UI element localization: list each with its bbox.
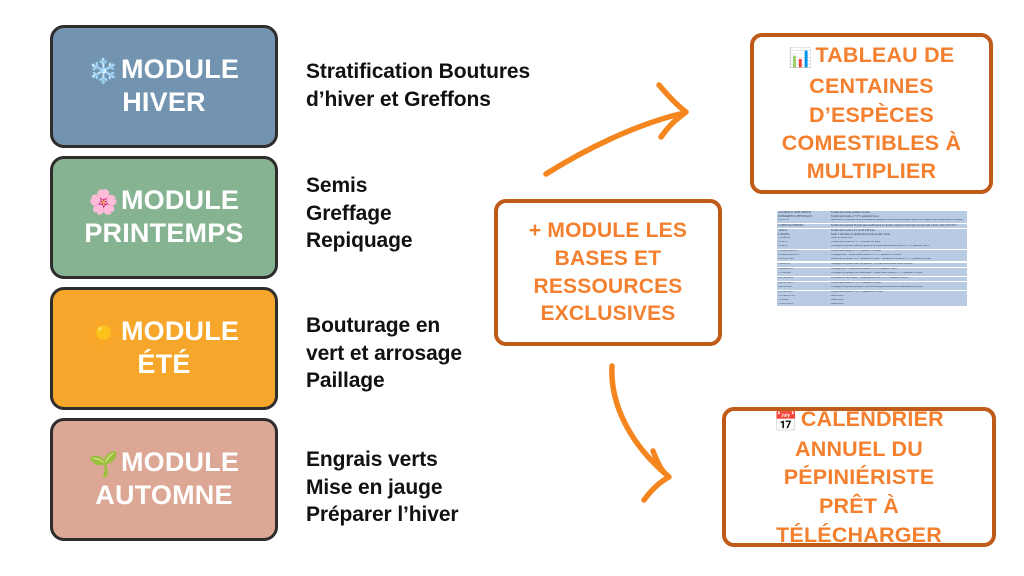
calendar-icon: 📅: [774, 412, 798, 433]
module-card-ete[interactable]: ☀️MODULEÉTÉ: [50, 287, 278, 410]
arrow-to-tableau-icon: [540, 58, 770, 198]
module-card-hiver-text: ❄️MODULEHIVER: [79, 54, 249, 118]
calendrier-box[interactable]: 📅CALENDRIER ANNUEL DU PÉPINIÉRISTE PRÊT …: [722, 407, 996, 547]
module-card-hiver-line2: HIVER: [122, 87, 206, 117]
species-table: ANAPHALIS TRIPLINERVISStratification fro…: [777, 211, 967, 306]
module-card-printemps[interactable]: 🌸MODULEPRINTEMPS: [50, 156, 278, 279]
sun-icon: ☀️: [89, 320, 119, 347]
cherry-blossom-icon: 🌸: [89, 189, 119, 216]
module-card-ete-line2: ÉTÉ: [137, 349, 190, 379]
species-table-thumbnail[interactable]: ANAPHALIS TRIPLINERVISStratification fro…: [777, 211, 967, 363]
tableau-especes-box-text: 📊TABLEAU DE CENTAINES D’ESPÈCES COMESTIB…: [772, 41, 971, 185]
table-cell-species: EUONYMUS: [777, 303, 830, 307]
module-card-automne[interactable]: 🌱MODULEAUTOMNE: [50, 418, 278, 541]
module-card-printemps-line1: MODULE: [121, 185, 239, 215]
module-card-ete-text: ☀️MODULEÉTÉ: [79, 316, 249, 380]
module-card-hiver-line1: MODULE: [121, 54, 239, 84]
module-card-automne-line2: AUTOMNE: [95, 480, 232, 510]
module-card-printemps-line2: PRINTEMPS: [84, 218, 243, 248]
bar-chart-icon: 📊: [789, 48, 813, 69]
bonus-module-box-text: + MODULE LES BASES ET RESSOURCES EXCLUSI…: [519, 217, 697, 329]
table-row: EUONYMUSSemis direct: [777, 303, 967, 307]
module-card-ete-line1: MODULE: [121, 316, 239, 346]
module-card-printemps-text: 🌸MODULEPRINTEMPS: [74, 185, 253, 249]
snowflake-icon: ❄️: [89, 58, 119, 85]
tableau-especes-box[interactable]: 📊TABLEAU DE CENTAINES D’ESPÈCES COMESTIB…: [750, 33, 993, 194]
table-cell-method: Semis direct: [830, 303, 967, 307]
bonus-module-box[interactable]: + MODULE LES BASES ET RESSOURCES EXCLUSI…: [494, 199, 722, 346]
seedling-icon: 🌱: [89, 451, 119, 478]
module-card-automne-line1: MODULE: [121, 447, 239, 477]
task-list-hiver: Stratification Boutures d’hiver et Greff…: [306, 58, 556, 113]
infographic-canvas: ❄️MODULEHIVER 🌸MODULEPRINTEMPS ☀️MODULEÉ…: [0, 0, 1024, 576]
task-list-automne: Engrais verts Mise en jauge Préparer l’h…: [306, 446, 556, 529]
module-card-hiver[interactable]: ❄️MODULEHIVER: [50, 25, 278, 148]
module-card-automne-text: 🌱MODULEAUTOMNE: [79, 447, 249, 511]
calendrier-box-text: 📅CALENDRIER ANNUEL DU PÉPINIÉRISTE PRÊT …: [726, 405, 992, 550]
calendrier-label: CALENDRIER ANNUEL DU PÉPINIÉRISTE PRÊT À…: [776, 407, 944, 547]
